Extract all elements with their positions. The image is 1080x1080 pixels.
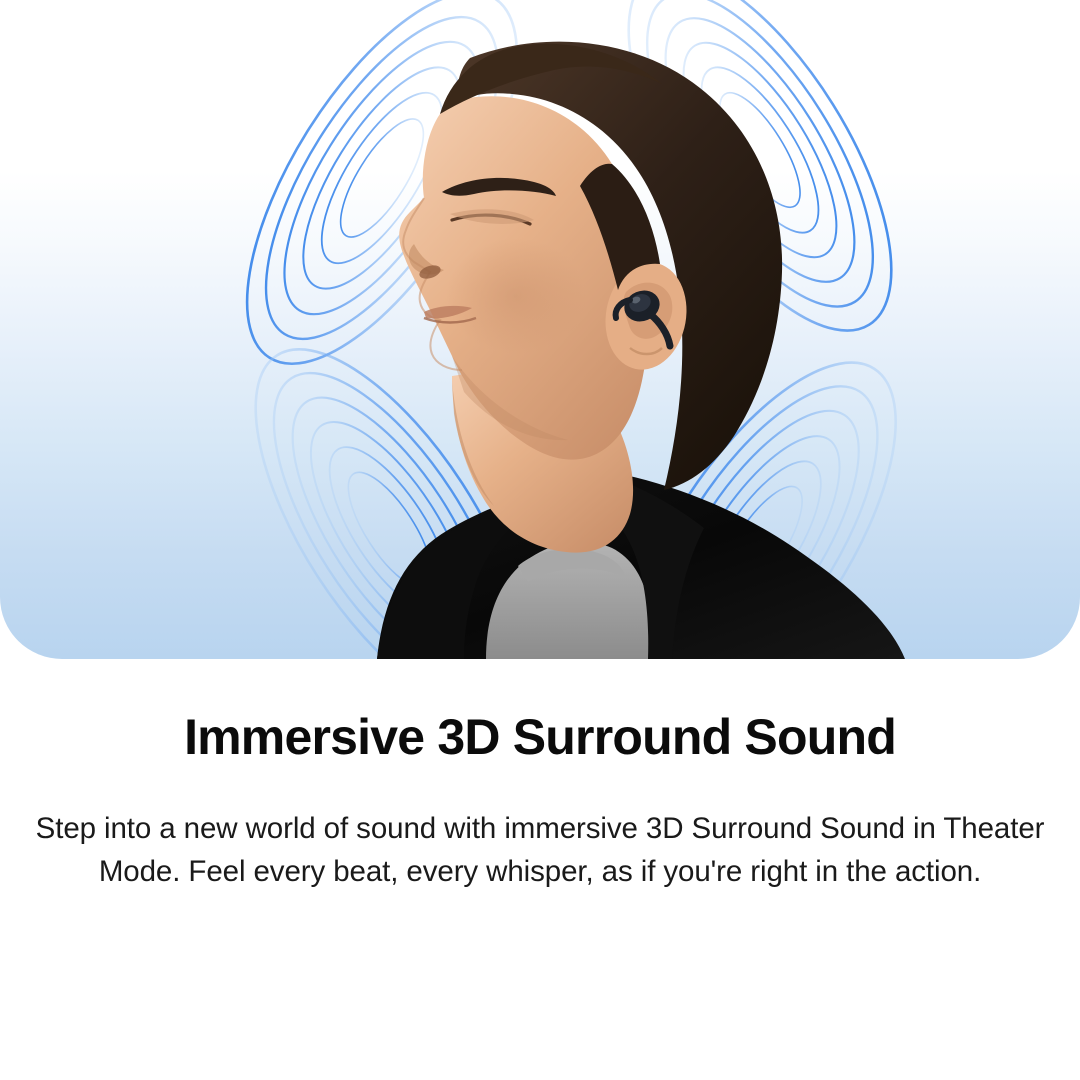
hero-illustration (0, 0, 1080, 659)
feature-text-block: Immersive 3D Surround Sound Step into a … (0, 659, 1080, 894)
hero-image-card (0, 0, 1080, 659)
person-portrait (377, 42, 905, 659)
feature-page: Immersive 3D Surround Sound Step into a … (0, 0, 1080, 1080)
feature-description: Step into a new world of sound with imme… (14, 807, 1066, 894)
cheek-shading (446, 238, 586, 354)
feature-headline: Immersive 3D Surround Sound (14, 710, 1066, 764)
